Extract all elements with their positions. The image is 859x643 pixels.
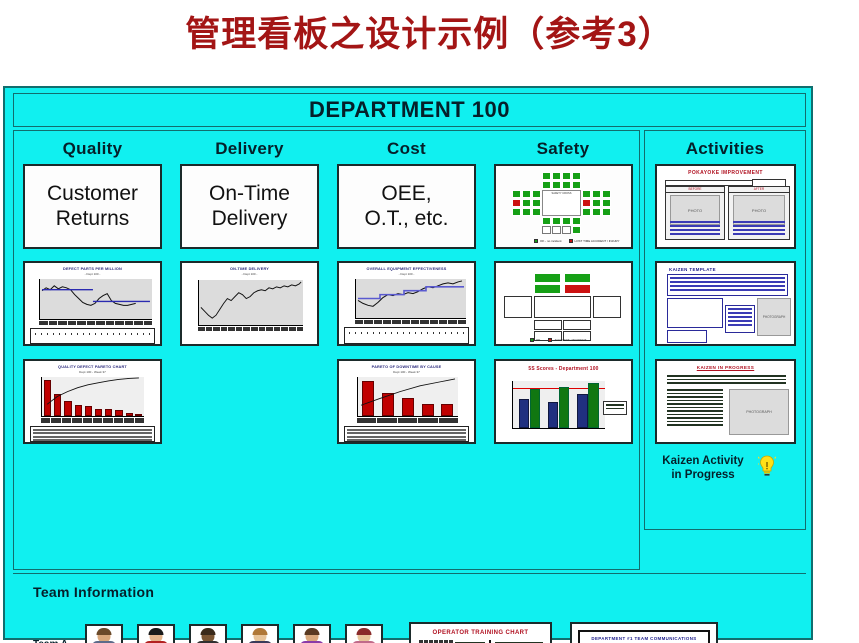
metric-card-delivery[interactable]: On-Time Delivery (180, 164, 319, 249)
chart-delivery-trend-title: ON-TIME DELIVERY (185, 266, 313, 271)
safety-grid-legend: OK ACCIDENT / INCIDENT (530, 338, 586, 342)
metric-card-delivery-line1: On-Time (209, 182, 290, 206)
chart-cost-pareto[interactable]: PARETO OF DOWNTIME BY CAUSE Dept 100 - W… (337, 359, 476, 444)
safety-grid-legend-ok: OK (536, 338, 540, 342)
team-information-zone: Team Information Team A Team B (13, 573, 806, 639)
doc-team-communications[interactable]: DEPARTMENT #1 TEAM COMMUNICATIONS (570, 622, 718, 643)
avatar-hair (305, 628, 320, 635)
metrics-zone: Quality Delivery Cost Safety Customer Re… (13, 130, 640, 570)
safety-cross-center-label: SAFETY CROSS (542, 190, 581, 216)
activity-panel-kaizen-progress[interactable]: KAIZEN IN PROGRESS PHOTOGRAPH (655, 359, 796, 444)
team-row-label-a: Team A (33, 639, 68, 643)
avatar-hair (149, 628, 164, 635)
chart-cost-trend-title: OVERALL EQUIPMENT EFFECTIVENESS (342, 266, 470, 271)
avatar-hair (201, 628, 216, 635)
page-title: 管理看板之设计示例（参考3） (0, 6, 859, 57)
safety-status-board[interactable]: OK ACCIDENT / INCIDENT (494, 261, 633, 346)
team-member-avatar[interactable] (137, 624, 175, 643)
metric-card-delivery-line2: Delivery (209, 207, 290, 231)
activity-panel-pokayoke[interactable]: POKAYOKE IMPROVEMENT BEFORE PHOTO AFTER … (655, 164, 796, 249)
activities-zone: Activities POKAYOKE IMPROVEMENT BEFORE P… (644, 130, 806, 530)
chart-5s-title: 5S Scores - Department 100 (499, 366, 627, 372)
chart-quality-pareto-subtitle: Dept 100 - Week 37 (25, 370, 160, 374)
team-member-avatar[interactable] (293, 624, 331, 643)
metric-card-cost[interactable]: OEE, O.T., etc. (337, 164, 476, 249)
kaizen-footer-line1: Kaizen Activity (651, 454, 755, 468)
chart-cost-pareto-subtitle: Dept 100 - Week 37 (339, 370, 474, 374)
safety-grid-legend-bad: ACCIDENT / INCIDENT (554, 338, 586, 342)
metric-card-cost-line1: OEE, (364, 182, 448, 206)
safety-cross-panel[interactable]: SAFETY CROSS OK - no incident LOST TIME … (494, 164, 633, 249)
kaizen-template-title: KAIZEN TEMPLATE (669, 267, 794, 272)
kanban-board: DEPARTMENT 100 Quality Delivery Cost Saf… (3, 86, 813, 640)
chart-cost-trend[interactable]: OVERALL EQUIPMENT EFFECTIVENESS - Dept 1… (337, 261, 476, 346)
board-header: DEPARTMENT 100 (13, 93, 806, 127)
pokayoke-title: POKAYOKE IMPROVEMENT (657, 170, 794, 176)
chart-5s-scores[interactable]: 5S Scores - Department 100 (494, 359, 633, 444)
column-header-delivery: Delivery (171, 139, 328, 159)
doc-operator-training-chart[interactable]: OPERATOR TRAINING CHART (409, 622, 552, 643)
metric-card-cost-line2: O.T., etc. (364, 207, 448, 231)
chart-quality-pareto[interactable]: QUALITY DEFECT PARETO CHART Dept 100 - W… (23, 359, 162, 444)
metric-card-quality[interactable]: Customer Returns (23, 164, 162, 249)
chart-quality-pareto-title: QUALITY DEFECT PARETO CHART (28, 364, 156, 369)
kaizen-progress-photo: PHOTOGRAPH (729, 389, 789, 435)
team-information-title: Team Information (33, 584, 154, 600)
department-title: DEPARTMENT 100 (309, 97, 510, 123)
team-member-avatar[interactable] (241, 624, 279, 643)
operator-training-title: OPERATOR TRAINING CHART (411, 630, 550, 636)
chart-delivery-trend[interactable]: ON-TIME DELIVERY - Dept 100 - (180, 261, 319, 346)
safety-legend-ok: OK - no incident (540, 239, 562, 243)
pokayoke-after-label: AFTER (729, 187, 789, 193)
kaizen-progress-title: KAIZEN IN PROGRESS (657, 365, 794, 370)
metric-card-quality-line2: Returns (47, 207, 138, 231)
column-header-safety: Safety (485, 139, 641, 159)
pokayoke-before-label: BEFORE (666, 187, 724, 193)
kaizen-footer-line2: in Progress (651, 468, 755, 482)
kaizen-template-photo: PHOTOGRAPH (757, 298, 791, 336)
chart-quality-trend-title: DEFECT PARTS PER MILLION (28, 266, 156, 271)
team-member-avatar[interactable] (345, 624, 383, 643)
chart-cost-pareto-title: PARETO OF DOWNTIME BY CAUSE (342, 364, 470, 369)
chart-cost-trend-subtitle: - Dept 100 - (339, 272, 474, 276)
activity-panel-kaizen-template[interactable]: KAIZEN TEMPLATE PHOTOGRAPH (655, 261, 796, 346)
kaizen-activity-footer: Kaizen Activity in Progress (651, 454, 755, 483)
column-header-quality: Quality (14, 139, 171, 159)
safety-legend-bad: LOST TIME ACCIDENT / INJURY (575, 239, 620, 243)
avatar-hair (97, 628, 112, 635)
chart-quality-trend[interactable]: DEFECT PARTS PER MILLION - Dept 100 - (23, 261, 162, 346)
team-member-avatar[interactable] (189, 624, 227, 643)
metric-card-quality-line1: Customer (47, 182, 138, 206)
safety-cross-grid: SAFETY CROSS OK - no incident LOST TIME … (496, 166, 631, 247)
safety-cross-legend: OK - no incident LOST TIME ACCIDENT / IN… (534, 239, 619, 243)
column-header-cost: Cost (328, 139, 485, 159)
chart-delivery-trend-subtitle: - Dept 100 - (182, 272, 317, 276)
avatar-hair (357, 628, 372, 635)
team-communications-title: DEPARTMENT #1 TEAM COMMUNICATIONS (572, 636, 716, 641)
lightbulb-icon (758, 455, 776, 479)
avatar-hair (253, 628, 268, 635)
team-member-avatar[interactable] (85, 624, 123, 643)
chart-quality-trend-subtitle: - Dept 100 - (25, 272, 160, 276)
column-header-activities: Activities (645, 139, 805, 159)
